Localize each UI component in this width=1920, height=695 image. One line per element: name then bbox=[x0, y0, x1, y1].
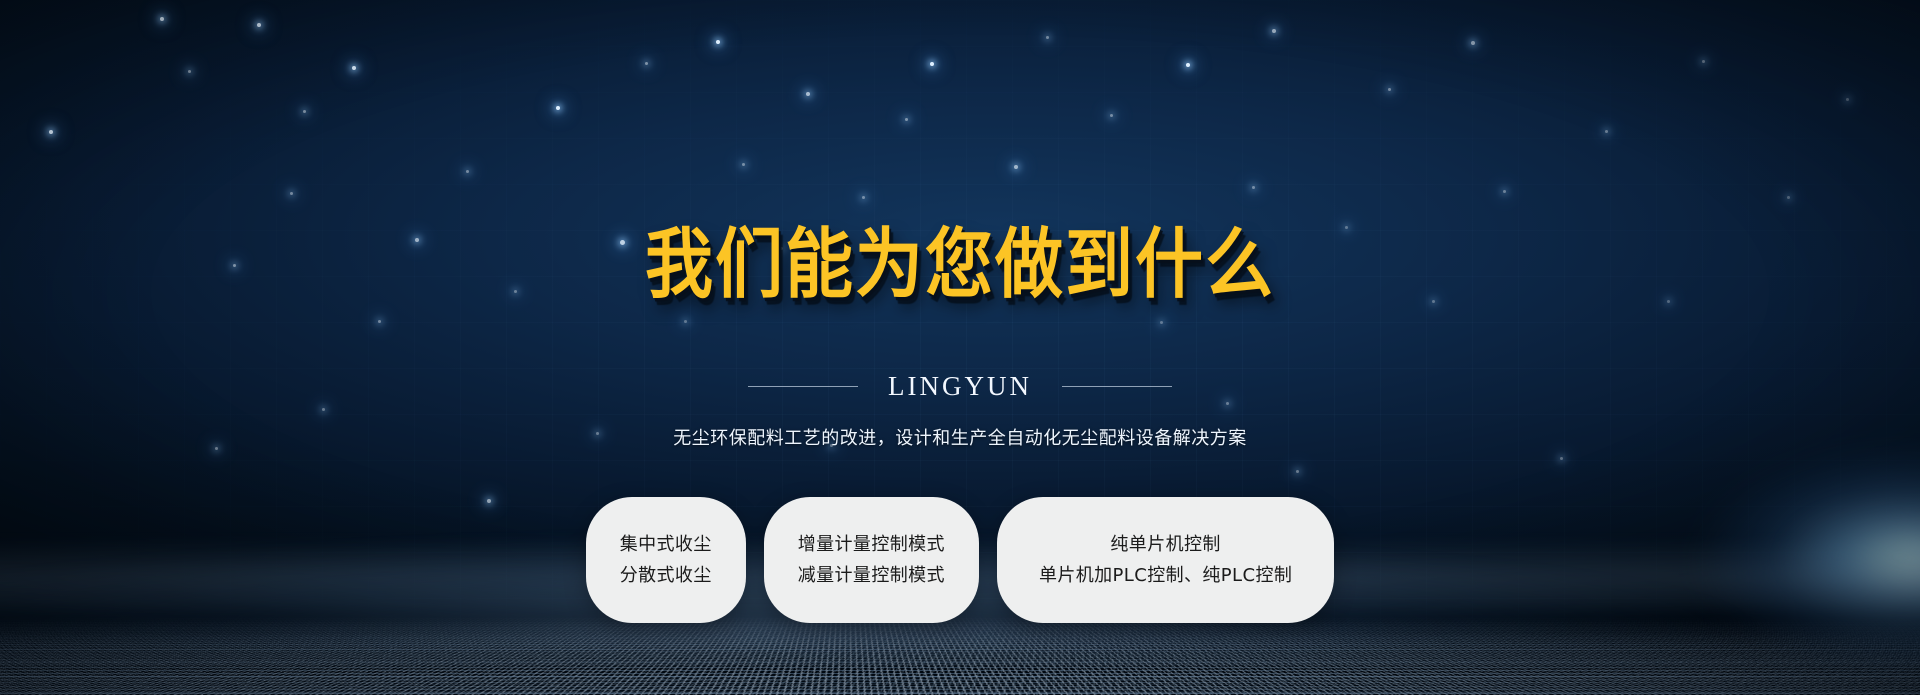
banner-content: 我们能为您做到什么 LINGYUN 无尘环保配料工艺的改进，设计和生产全自动化无… bbox=[0, 0, 1920, 695]
feature-card-metering-mode[interactable]: 增量计量控制模式 减量计量控制模式 bbox=[764, 497, 979, 623]
feature-card-line-1: 纯单片机控制 bbox=[1110, 536, 1220, 554]
feature-card-line-2: 分散式收尘 bbox=[620, 567, 712, 585]
feature-card-control-system[interactable]: 纯单片机控制 单片机加PLC控制、纯PLC控制 bbox=[997, 497, 1334, 623]
banner-subtitle: 无尘环保配料工艺的改进，设计和生产全自动化无尘配料设备解决方案 bbox=[673, 424, 1247, 450]
feature-card-line-1: 增量计量控制模式 bbox=[798, 536, 945, 554]
feature-card-line-2: 减量计量控制模式 bbox=[798, 567, 945, 585]
feature-card-dust-collection[interactable]: 集中式收尘 分散式收尘 bbox=[586, 497, 746, 623]
brand-name-row: LINGYUN bbox=[748, 371, 1172, 402]
rule-left bbox=[748, 386, 858, 387]
feature-card-line-1: 集中式收尘 bbox=[620, 536, 712, 554]
feature-card-line-2: 单片机加PLC控制、纯PLC控制 bbox=[1039, 567, 1292, 585]
brand-english-name: LINGYUN bbox=[888, 371, 1032, 402]
banner-headline: 我们能为您做到什么 bbox=[645, 228, 1275, 304]
hero-banner: 我们能为您做到什么 LINGYUN 无尘环保配料工艺的改进，设计和生产全自动化无… bbox=[0, 0, 1920, 695]
feature-card-list: 集中式收尘 分散式收尘 增量计量控制模式 减量计量控制模式 纯单片机控制 单片机… bbox=[586, 497, 1335, 623]
rule-right bbox=[1062, 386, 1172, 387]
